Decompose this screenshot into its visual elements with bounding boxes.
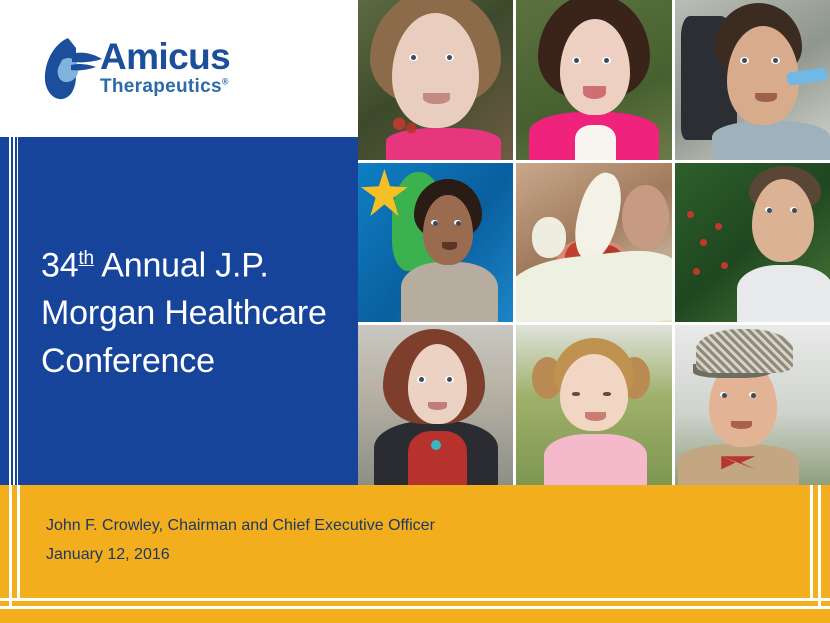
photo-cell <box>675 0 830 160</box>
photo-cell <box>516 163 671 323</box>
accent-stripe-left-3 <box>17 137 18 485</box>
logo-tagline: Therapeutics® <box>100 77 230 96</box>
band-stripe-bottom-1 <box>0 598 830 601</box>
logo-tagline-text: Therapeutics <box>100 76 222 97</box>
band-stripe-bottom-2 <box>0 606 830 609</box>
photo-cell <box>516 0 671 160</box>
registered-mark: ® <box>222 77 229 87</box>
accent-stripe-left-2 <box>13 137 15 485</box>
amicus-swoosh-a-icon <box>38 34 108 104</box>
footer-text: John F. Crowley, Chairman and Chief Exec… <box>46 511 435 569</box>
slide-title: 34th Annual J.P. Morgan Healthcare Confe… <box>41 235 341 385</box>
photo-cell <box>675 325 830 485</box>
photo-cell <box>516 325 671 485</box>
photo-cell <box>675 163 830 323</box>
presenter-line: John F. Crowley, Chairman and Chief Exec… <box>46 511 435 540</box>
photo-cell <box>358 163 513 323</box>
band-stripe-left-1 <box>9 485 12 609</box>
date-line: January 12, 2016 <box>46 540 435 569</box>
footer-band: John F. Crowley, Chairman and Chief Exec… <box>0 485 830 623</box>
accent-stripe-left-1 <box>9 137 11 485</box>
photo-cell <box>358 325 513 485</box>
band-stripe-left-2 <box>17 485 20 601</box>
title-number: 34 <box>41 246 78 284</box>
title-ordinal-suffix: th <box>78 248 93 269</box>
amicus-logo: Amicus Therapeutics® <box>38 30 278 115</box>
photo-cell <box>358 0 513 160</box>
band-stripe-right-1 <box>818 485 821 609</box>
logo-wordmark: Amicus <box>100 38 230 75</box>
band-stripe-right-2 <box>810 485 813 601</box>
patient-photo-grid <box>358 0 830 485</box>
presentation-slide: Amicus Therapeutics® 34th Annual J.P. Mo… <box>0 0 830 623</box>
